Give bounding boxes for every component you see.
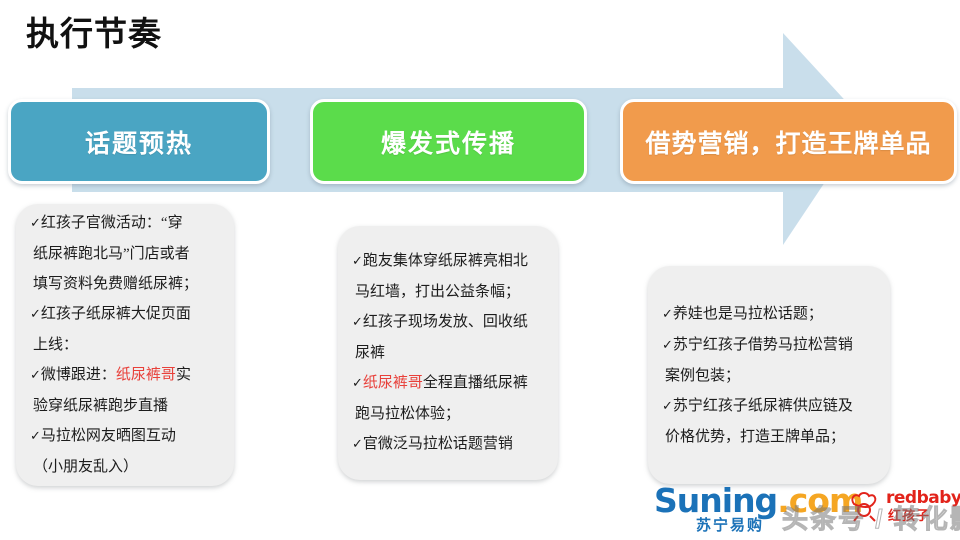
bullet-text-segment: 案例包装； (665, 368, 740, 384)
bullet-text-segment: （小朋友乱入） (33, 459, 138, 475)
phase-header-3[interactable]: 借势营销，打造王牌单品 (620, 99, 957, 184)
bullet-text-segment: 实 (176, 367, 191, 383)
bullet-text-segment: 养娃也是马拉松话题； (673, 306, 823, 322)
bullet-text-segment: 微博跟进： (41, 367, 116, 383)
bullet-line: 尿裤 (352, 338, 544, 368)
bullet-text-segment: 纸尿裤哥 (363, 375, 423, 391)
check-icon: ✓ (352, 254, 363, 269)
phase-card-3: ✓养娃也是马拉松话题；✓苏宁红孩子借势马拉松营销 案例包装；✓苏宁红孩子纸尿裤供… (648, 266, 890, 484)
check-icon: ✓ (662, 399, 673, 414)
bullet-line: ✓红孩子纸尿裤大促页面 (30, 299, 220, 330)
bullet-text-segment: 苏宁红孩子借势马拉松营销 (673, 337, 853, 353)
phase-header-1[interactable]: 话题预热 (8, 99, 270, 184)
check-icon: ✓ (30, 307, 41, 322)
bullet-line: 上线： (30, 330, 220, 360)
check-icon: ✓ (30, 429, 41, 444)
bullet-line: 填写资料免费赠纸尿裤； (30, 269, 220, 299)
bullet-text-segment: 上线： (33, 337, 78, 353)
check-icon: ✓ (352, 315, 363, 330)
watermark-text: 头条号 / 转化影力 (782, 503, 960, 535)
bullet-text-segment: 跑马拉松体验； (355, 406, 460, 422)
bullet-text-segment: 尿裤 (355, 345, 385, 361)
bullet-text-segment: 验穿纸尿裤跑步直播 (33, 398, 168, 414)
check-icon: ✓ (352, 437, 363, 452)
bullet-line: ✓红孩子现场发放、回收纸 (352, 307, 544, 338)
check-icon: ✓ (30, 368, 41, 383)
bullet-text-segment: 马红墙，打出公益条幅； (355, 284, 520, 300)
bullet-text-segment: 红孩子现场发放、回收纸 (363, 314, 528, 330)
bullet-line: 马红墙，打出公益条幅； (352, 277, 544, 307)
suning-chinese-text: 苏宁易购 (696, 517, 764, 535)
slide-canvas: 执行节奏 话题预热 爆发式传播 借势营销，打造王牌单品 ✓红孩子官微活动：“穿 … (0, 0, 960, 540)
suning-brand-text: Suning (654, 481, 777, 520)
bullet-line: ✓马拉松网友晒图互动 (30, 421, 220, 452)
bullet-line: 验穿纸尿裤跑步直播 (30, 391, 220, 421)
phase-header-2[interactable]: 爆发式传播 (310, 99, 587, 184)
check-icon: ✓ (30, 216, 41, 231)
bullet-line: ✓微博跟进：纸尿裤哥实 (30, 360, 220, 391)
check-icon: ✓ (352, 376, 363, 391)
bullet-text-segment: 纸尿裤哥 (116, 367, 176, 383)
bullet-line: 纸尿裤跑北马”门店或者 (30, 239, 220, 269)
bullet-text-segment: 纸尿裤跑北马”门店或者 (33, 246, 190, 262)
bullet-line: 价格优势，打造王牌单品； (662, 422, 876, 452)
bullet-text-segment: 跑友集体穿纸尿裤亮相北 (363, 253, 528, 269)
phase-card-2: ✓跑友集体穿纸尿裤亮相北 马红墙，打出公益条幅；✓红孩子现场发放、回收纸 尿裤✓… (338, 226, 558, 480)
bullet-line: ✓官微泛马拉松话题营销 (352, 429, 544, 460)
bullet-line: ✓纸尿裤哥全程直播纸尿裤 (352, 368, 544, 399)
check-icon: ✓ (662, 307, 673, 322)
page-title: 执行节奏 (26, 12, 162, 56)
bullet-line: （小朋友乱入） (30, 452, 220, 482)
bullet-text-segment: 马拉松网友晒图互动 (41, 428, 176, 444)
bullet-line: ✓跑友集体穿纸尿裤亮相北 (352, 246, 544, 277)
phase-card-1: ✓红孩子官微活动：“穿 纸尿裤跑北马”门店或者 填写资料免费赠纸尿裤；✓红孩子纸… (16, 204, 234, 486)
bullet-line: ✓红孩子官微活动：“穿 (30, 208, 220, 239)
bullet-line: 案例包装； (662, 361, 876, 391)
bullet-text-segment: 全程直播纸尿裤 (423, 375, 528, 391)
bullet-line: 跑马拉松体验； (352, 399, 544, 429)
bullet-line: ✓苏宁红孩子纸尿裤供应链及 (662, 391, 876, 422)
check-icon: ✓ (662, 338, 673, 353)
bullet-text-segment: 官微泛马拉松话题营销 (363, 436, 513, 452)
bullet-line: ✓养娃也是马拉松话题； (662, 299, 876, 330)
bullet-text-segment: 填写资料免费赠纸尿裤； (33, 276, 198, 292)
bullet-text-segment: 价格优势，打造王牌单品； (665, 429, 845, 445)
bullet-text-segment: 苏宁红孩子纸尿裤供应链及 (673, 398, 853, 414)
bullet-line: ✓苏宁红孩子借势马拉松营销 (662, 330, 876, 361)
bullet-text-segment: 红孩子纸尿裤大促页面 (41, 306, 191, 322)
bullet-text-segment: 红孩子官微活动：“穿 (41, 215, 183, 231)
